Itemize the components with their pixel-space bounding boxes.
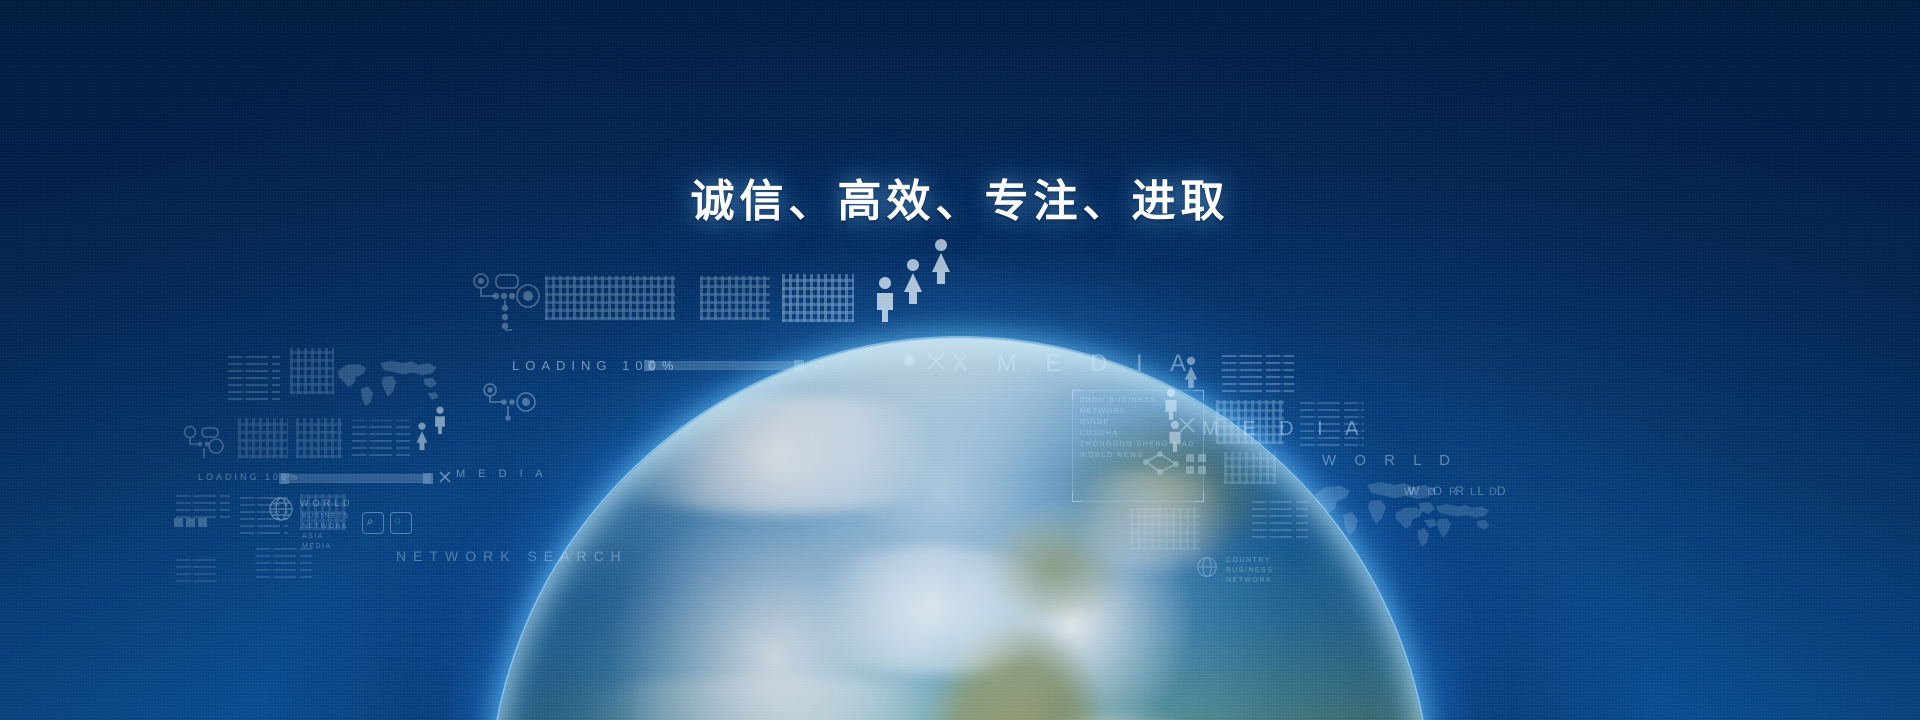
text-block <box>176 490 230 518</box>
world-label: W O R L D <box>1322 452 1457 469</box>
globe-icon <box>1196 556 1218 578</box>
network-node-diagram <box>1140 448 1210 496</box>
person-icon <box>432 406 448 434</box>
panel-line-right: NETWORK <box>1226 576 1272 586</box>
text-block <box>1300 400 1364 446</box>
chat-icon: ◌ <box>394 516 401 527</box>
globe-icon <box>268 496 294 522</box>
progress-bar-center <box>648 361 800 370</box>
network-search-label: NETWORK SEARCH <box>396 548 628 564</box>
text-block <box>176 556 220 582</box>
panel-line-right: BUSINESS <box>1226 566 1273 576</box>
circuit-node-cluster-left <box>482 382 538 424</box>
data-grid-block <box>296 418 342 458</box>
data-grid-block <box>782 274 854 322</box>
hero-banner: LOADING 100% ◉ X M E D I A M E D I A ZHO… <box>0 0 1920 720</box>
text-block <box>256 548 312 578</box>
panel-line: GUIDE <box>1080 418 1110 428</box>
search-icon: ⌕ <box>367 515 374 527</box>
text-block <box>1252 498 1308 538</box>
person-icon <box>1162 388 1180 420</box>
data-grid-block <box>700 276 770 320</box>
media-label: X M E D I A <box>952 350 1197 378</box>
text-block <box>1222 352 1294 392</box>
data-grid-block <box>290 348 334 394</box>
world-label-small: WORLD <box>300 498 354 508</box>
person-icon-female <box>900 258 926 304</box>
x-mark-icon <box>438 470 452 484</box>
panel-line: ZHOU BUSINESS <box>1080 396 1157 406</box>
text-block <box>228 352 280 400</box>
text-block <box>352 420 410 456</box>
page-title: 诚信、高效、专注、进取 <box>0 165 1920 229</box>
panel-line-right: COUNTRY <box>1226 556 1271 566</box>
eye-icon: ◉ <box>903 352 916 367</box>
data-grid-block <box>238 418 288 458</box>
small-list-item: NETWORK <box>302 522 348 532</box>
square-indicators <box>174 518 207 527</box>
data-grid-block <box>1224 452 1276 484</box>
world-map-far-right <box>1388 496 1498 552</box>
small-list-item: BUSINESS <box>302 512 349 522</box>
person-icon <box>1182 356 1200 388</box>
media-label-left: M E D I A <box>456 468 547 480</box>
person-icon <box>1166 420 1184 452</box>
world-map-left <box>330 352 446 412</box>
data-grid-block <box>1130 508 1200 550</box>
x-mark-icon <box>925 350 947 372</box>
circuit-node-cluster-top <box>472 272 542 334</box>
data-grid-block <box>545 276 675 320</box>
small-list-item: ASIA <box>302 532 324 542</box>
person-icon <box>872 276 898 322</box>
panel-line: NETWORK <box>1080 407 1126 417</box>
circuit-node-cluster-bottom-left <box>182 424 226 462</box>
panel-line: WORLD NEWS <box>1080 451 1144 461</box>
person-icon-female <box>928 238 954 284</box>
world-label: W O R L D <box>1404 486 1502 498</box>
hud-overlay: LOADING 100% ◉ X M E D I A M E D I A ZHO… <box>0 0 1920 720</box>
progress-bar-left <box>282 474 430 483</box>
person-icon <box>414 422 430 450</box>
panel-line: CUSCHA <box>1080 429 1119 439</box>
data-grid-block <box>1216 400 1284 444</box>
